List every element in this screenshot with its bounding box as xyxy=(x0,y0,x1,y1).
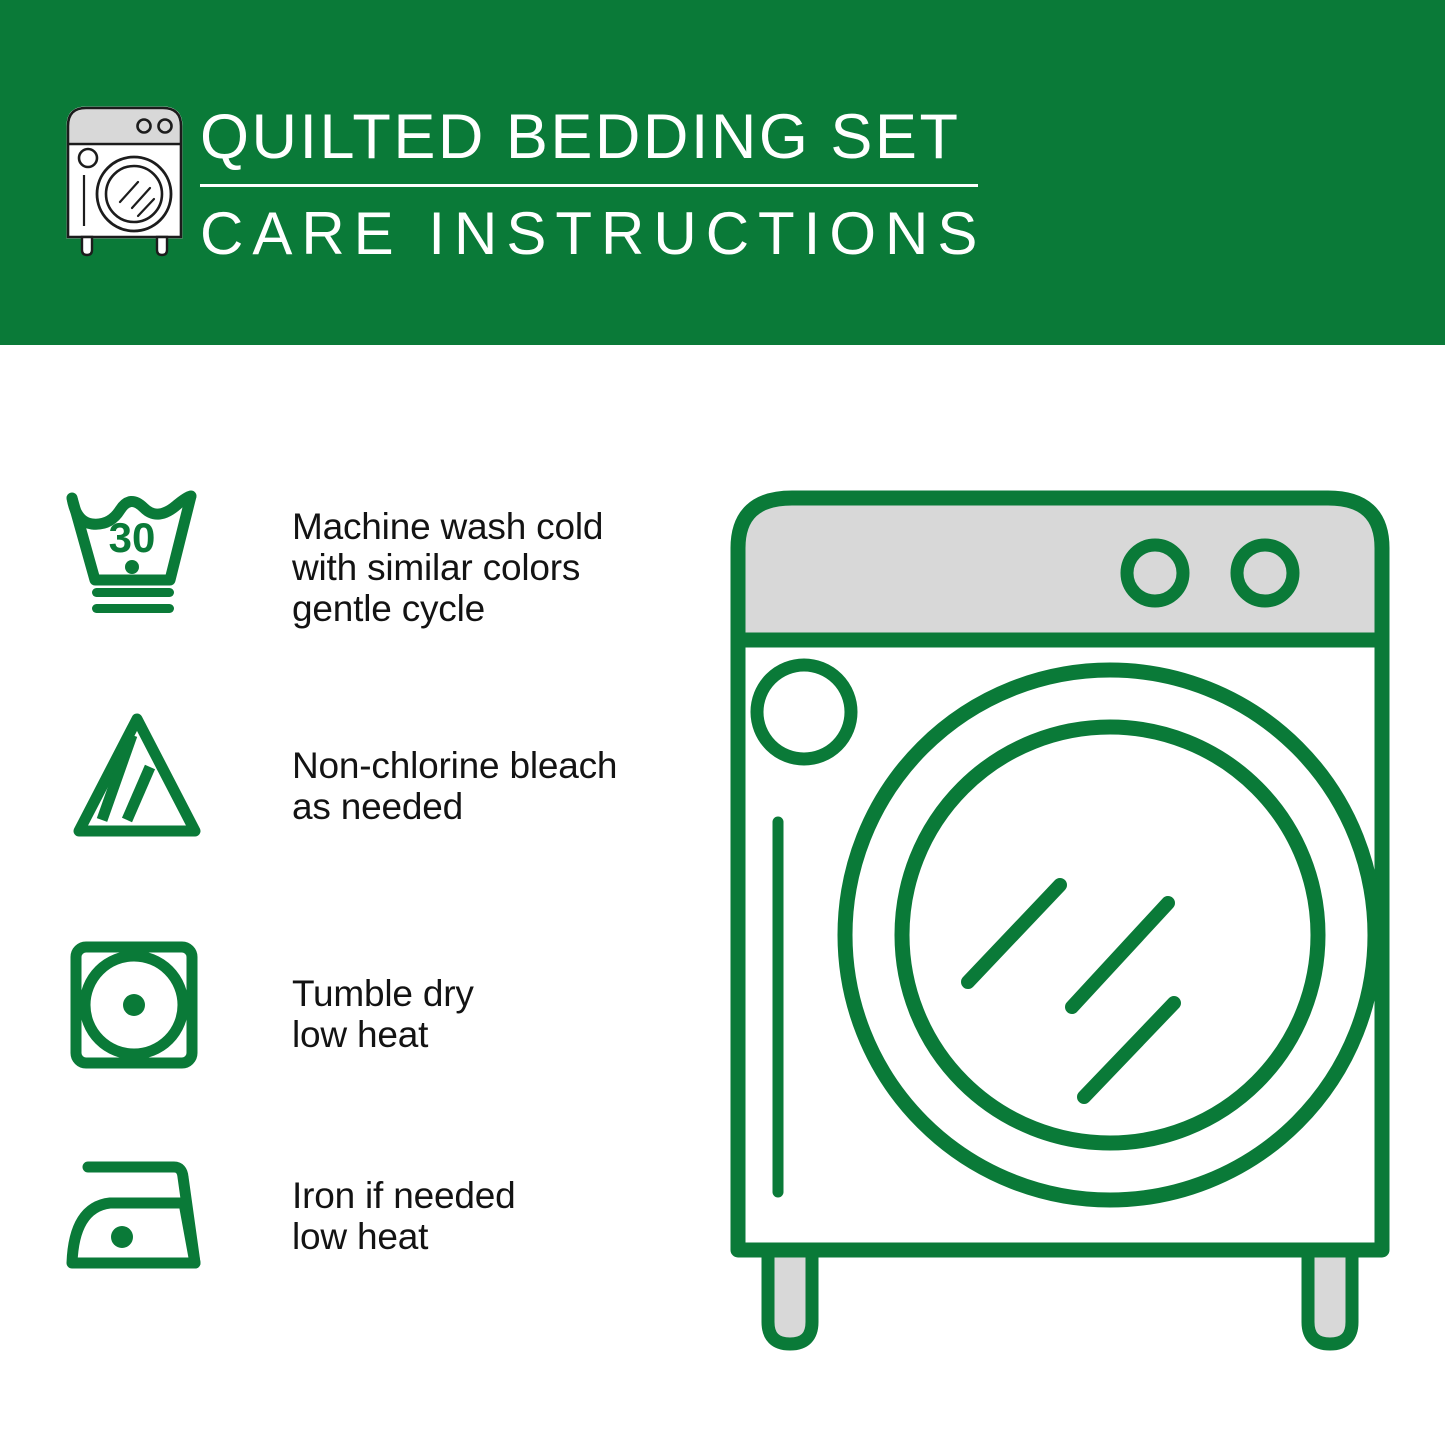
care-label-tumble-dry: Tumble dry low heat xyxy=(292,973,474,1055)
header-text-block: QUILTED BEDDING SET CARE INSTRUCTIONS xyxy=(200,100,1000,269)
front-load-washing-machine-illustration xyxy=(720,480,1400,1360)
care-row-machine-wash: 30 Machine wash cold with similar colors… xyxy=(0,480,700,629)
care-row-iron: Iron if needed low heat xyxy=(0,1145,700,1285)
washing-machine-icon xyxy=(62,98,187,258)
machine-wash-30-gentle-symbol: 30 xyxy=(62,480,237,620)
care-label-iron: Iron if needed low heat xyxy=(292,1175,515,1257)
tumble-dry-low-symbol xyxy=(62,935,237,1075)
iron-low-heat-symbol xyxy=(62,1145,237,1285)
header-banner: QUILTED BEDDING SET CARE INSTRUCTIONS xyxy=(0,0,1445,345)
svg-text:30: 30 xyxy=(109,514,156,561)
care-label-bleach: Non-chlorine bleach as needed xyxy=(292,745,617,827)
care-row-bleach: Non-chlorine bleach as needed xyxy=(0,705,700,845)
page-title: QUILTED BEDDING SET xyxy=(200,100,1000,174)
care-instructions-page: QUILTED BEDDING SET CARE INSTRUCTIONS 30 xyxy=(0,0,1445,1445)
non-chlorine-bleach-symbol xyxy=(62,705,237,845)
care-label-machine-wash: Machine wash cold with similar colors ge… xyxy=(292,506,603,629)
title-divider xyxy=(200,184,978,187)
care-row-tumble-dry: Tumble dry low heat xyxy=(0,935,700,1075)
page-subtitle: CARE INSTRUCTIONS xyxy=(200,199,1000,269)
